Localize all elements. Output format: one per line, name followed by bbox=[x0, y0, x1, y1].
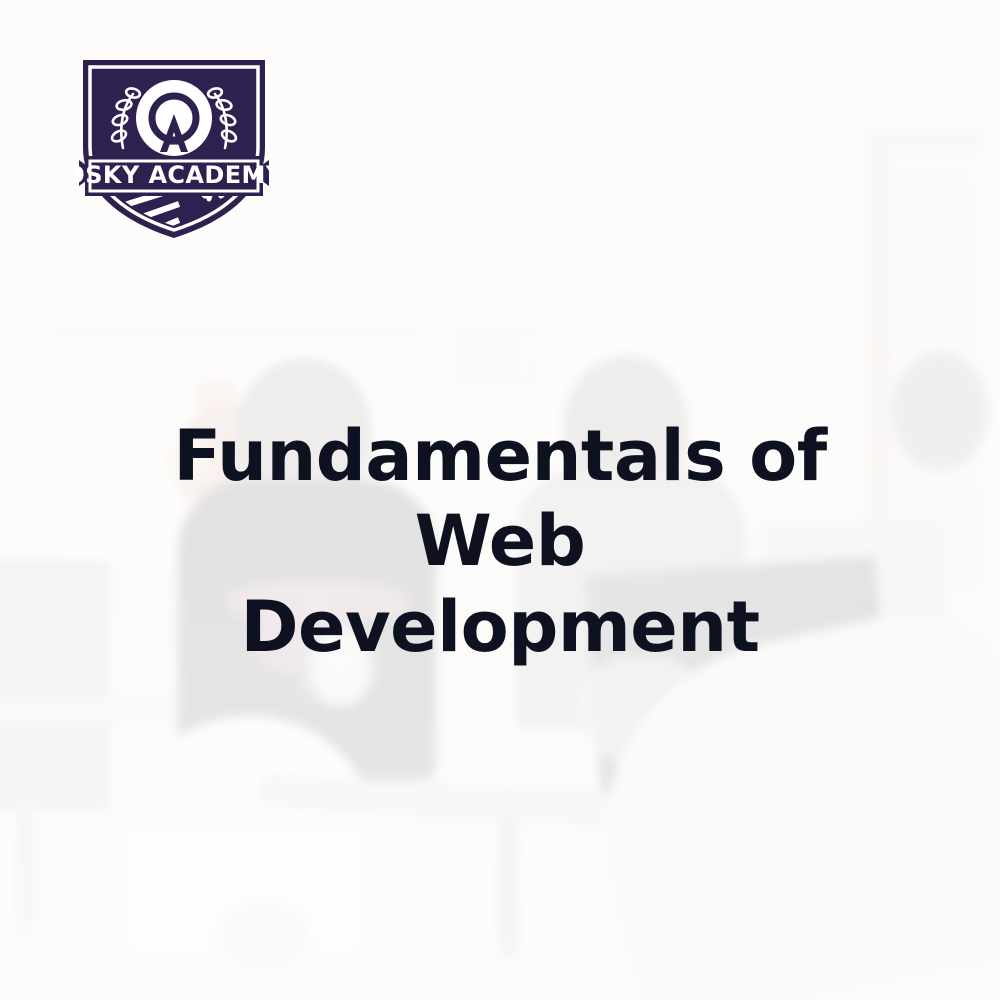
title-block: Fundamentals of Web Development bbox=[0, 414, 1000, 670]
white-chair-cutout bbox=[218, 902, 310, 972]
left-desk-leg bbox=[18, 720, 32, 930]
wall-poster-lines bbox=[460, 338, 516, 368]
course-banner-card: OSKY ACADEMY Fundamentals of Web Develop… bbox=[0, 0, 1000, 1000]
logo-banner-text: OSKY ACADEMY bbox=[75, 161, 273, 189]
monogram-letter-a-crossbar bbox=[168, 140, 180, 145]
projector-screen-toolbar bbox=[56, 327, 416, 334]
left-desk bbox=[0, 696, 178, 722]
page-title: Fundamentals of Web Development bbox=[80, 414, 920, 670]
osky-academy-logo[interactable]: OSKY ACADEMY bbox=[75, 52, 273, 244]
front-desk-leg bbox=[500, 818, 518, 958]
